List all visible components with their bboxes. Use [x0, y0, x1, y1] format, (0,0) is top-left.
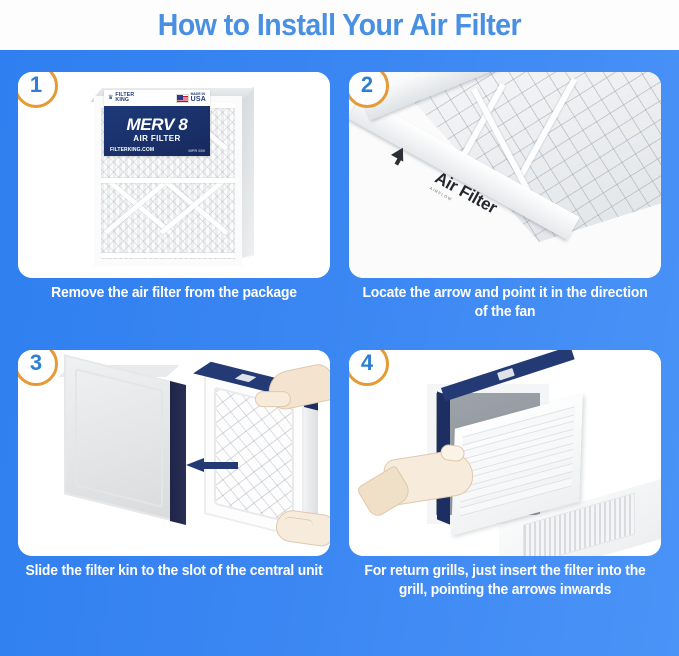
step-card-2: Air Filter AIRFLOW 2 — [349, 72, 661, 278]
merv-rating: MERV 8 — [104, 115, 210, 135]
header: How to Install Your Air Filter — [0, 0, 679, 50]
illustration-4 — [349, 350, 661, 556]
step-number-4: 4 — [361, 352, 373, 374]
step-cell-2: Air Filter AIRFLOW 2 Locate the arrow an… — [349, 72, 661, 342]
filter-corner: Air Filter AIRFLOW — [349, 72, 661, 278]
step-caption-1: Remove the air filter from the package — [24, 284, 324, 303]
central-unit-slot — [64, 354, 174, 521]
step-caption-2: Locate the arrow and point it in the dir… — [355, 284, 655, 322]
step-number-3: 3 — [30, 352, 42, 374]
slide-direction-arrow-icon — [186, 458, 238, 472]
product-photo-1: ♛ FILTER KING — [18, 72, 330, 278]
hand-lower — [274, 508, 330, 548]
label-footer: FILTERKING.COM MPR 650 — [110, 147, 205, 153]
step-number-2: 2 — [361, 74, 373, 96]
illustration-3 — [18, 350, 330, 556]
step-cell-3: 3 Slide the filter kin to the slot of th… — [18, 350, 330, 620]
brand-logo: ♛ FILTER KING — [108, 93, 134, 104]
country-label: USA — [191, 96, 206, 103]
hand-upper — [265, 362, 330, 413]
thumb — [440, 444, 466, 463]
product-label: ♛ FILTER KING — [104, 90, 210, 156]
us-flag-icon — [176, 94, 189, 103]
step-card-4: 4 — [349, 350, 661, 556]
central-unit-dark-depth — [170, 381, 186, 525]
crown-icon: ♛ — [108, 95, 113, 101]
product-photo-2: Air Filter AIRFLOW — [349, 72, 661, 278]
product-type: AIR FILTER — [104, 134, 210, 143]
brand-website: FILTERKING.COM — [110, 147, 154, 153]
mpr-rating: MPR 650 — [188, 148, 205, 153]
steps-board: ♛ FILTER KING — [0, 50, 679, 656]
steps-grid: ♛ FILTER KING — [0, 50, 679, 656]
made-in-usa: MADE IN USA — [176, 93, 206, 103]
airflow-arrow-stem — [395, 157, 402, 165]
step-caption-3: Slide the filter kin to the slot of the … — [24, 562, 324, 581]
label-top-row: ♛ FILTER KING — [104, 90, 210, 106]
step-cell-1: ♛ FILTER KING — [18, 72, 330, 342]
step-card-1: ♛ FILTER KING — [18, 72, 330, 278]
infographic-page: How to Install Your Air Filter — [0, 0, 679, 656]
step-caption-4: For return grills, just insert the filte… — [355, 562, 655, 600]
step-card-3: 3 — [18, 350, 330, 556]
label-body: MERV 8 AIR FILTER FILTERKING.COM MPR 650 — [104, 106, 210, 156]
page-title: How to Install Your Air Filter — [158, 7, 521, 43]
made-in-usa-text: MADE IN USA — [191, 93, 206, 103]
air-filter-product: ♛ FILTER KING — [90, 86, 258, 264]
step-cell-4: 4 For return grills, just insert the fil… — [349, 350, 661, 620]
step-number-1: 1 — [30, 74, 42, 96]
brand-line-2: KING — [115, 97, 129, 103]
brand-name: FILTER KING — [115, 93, 134, 104]
